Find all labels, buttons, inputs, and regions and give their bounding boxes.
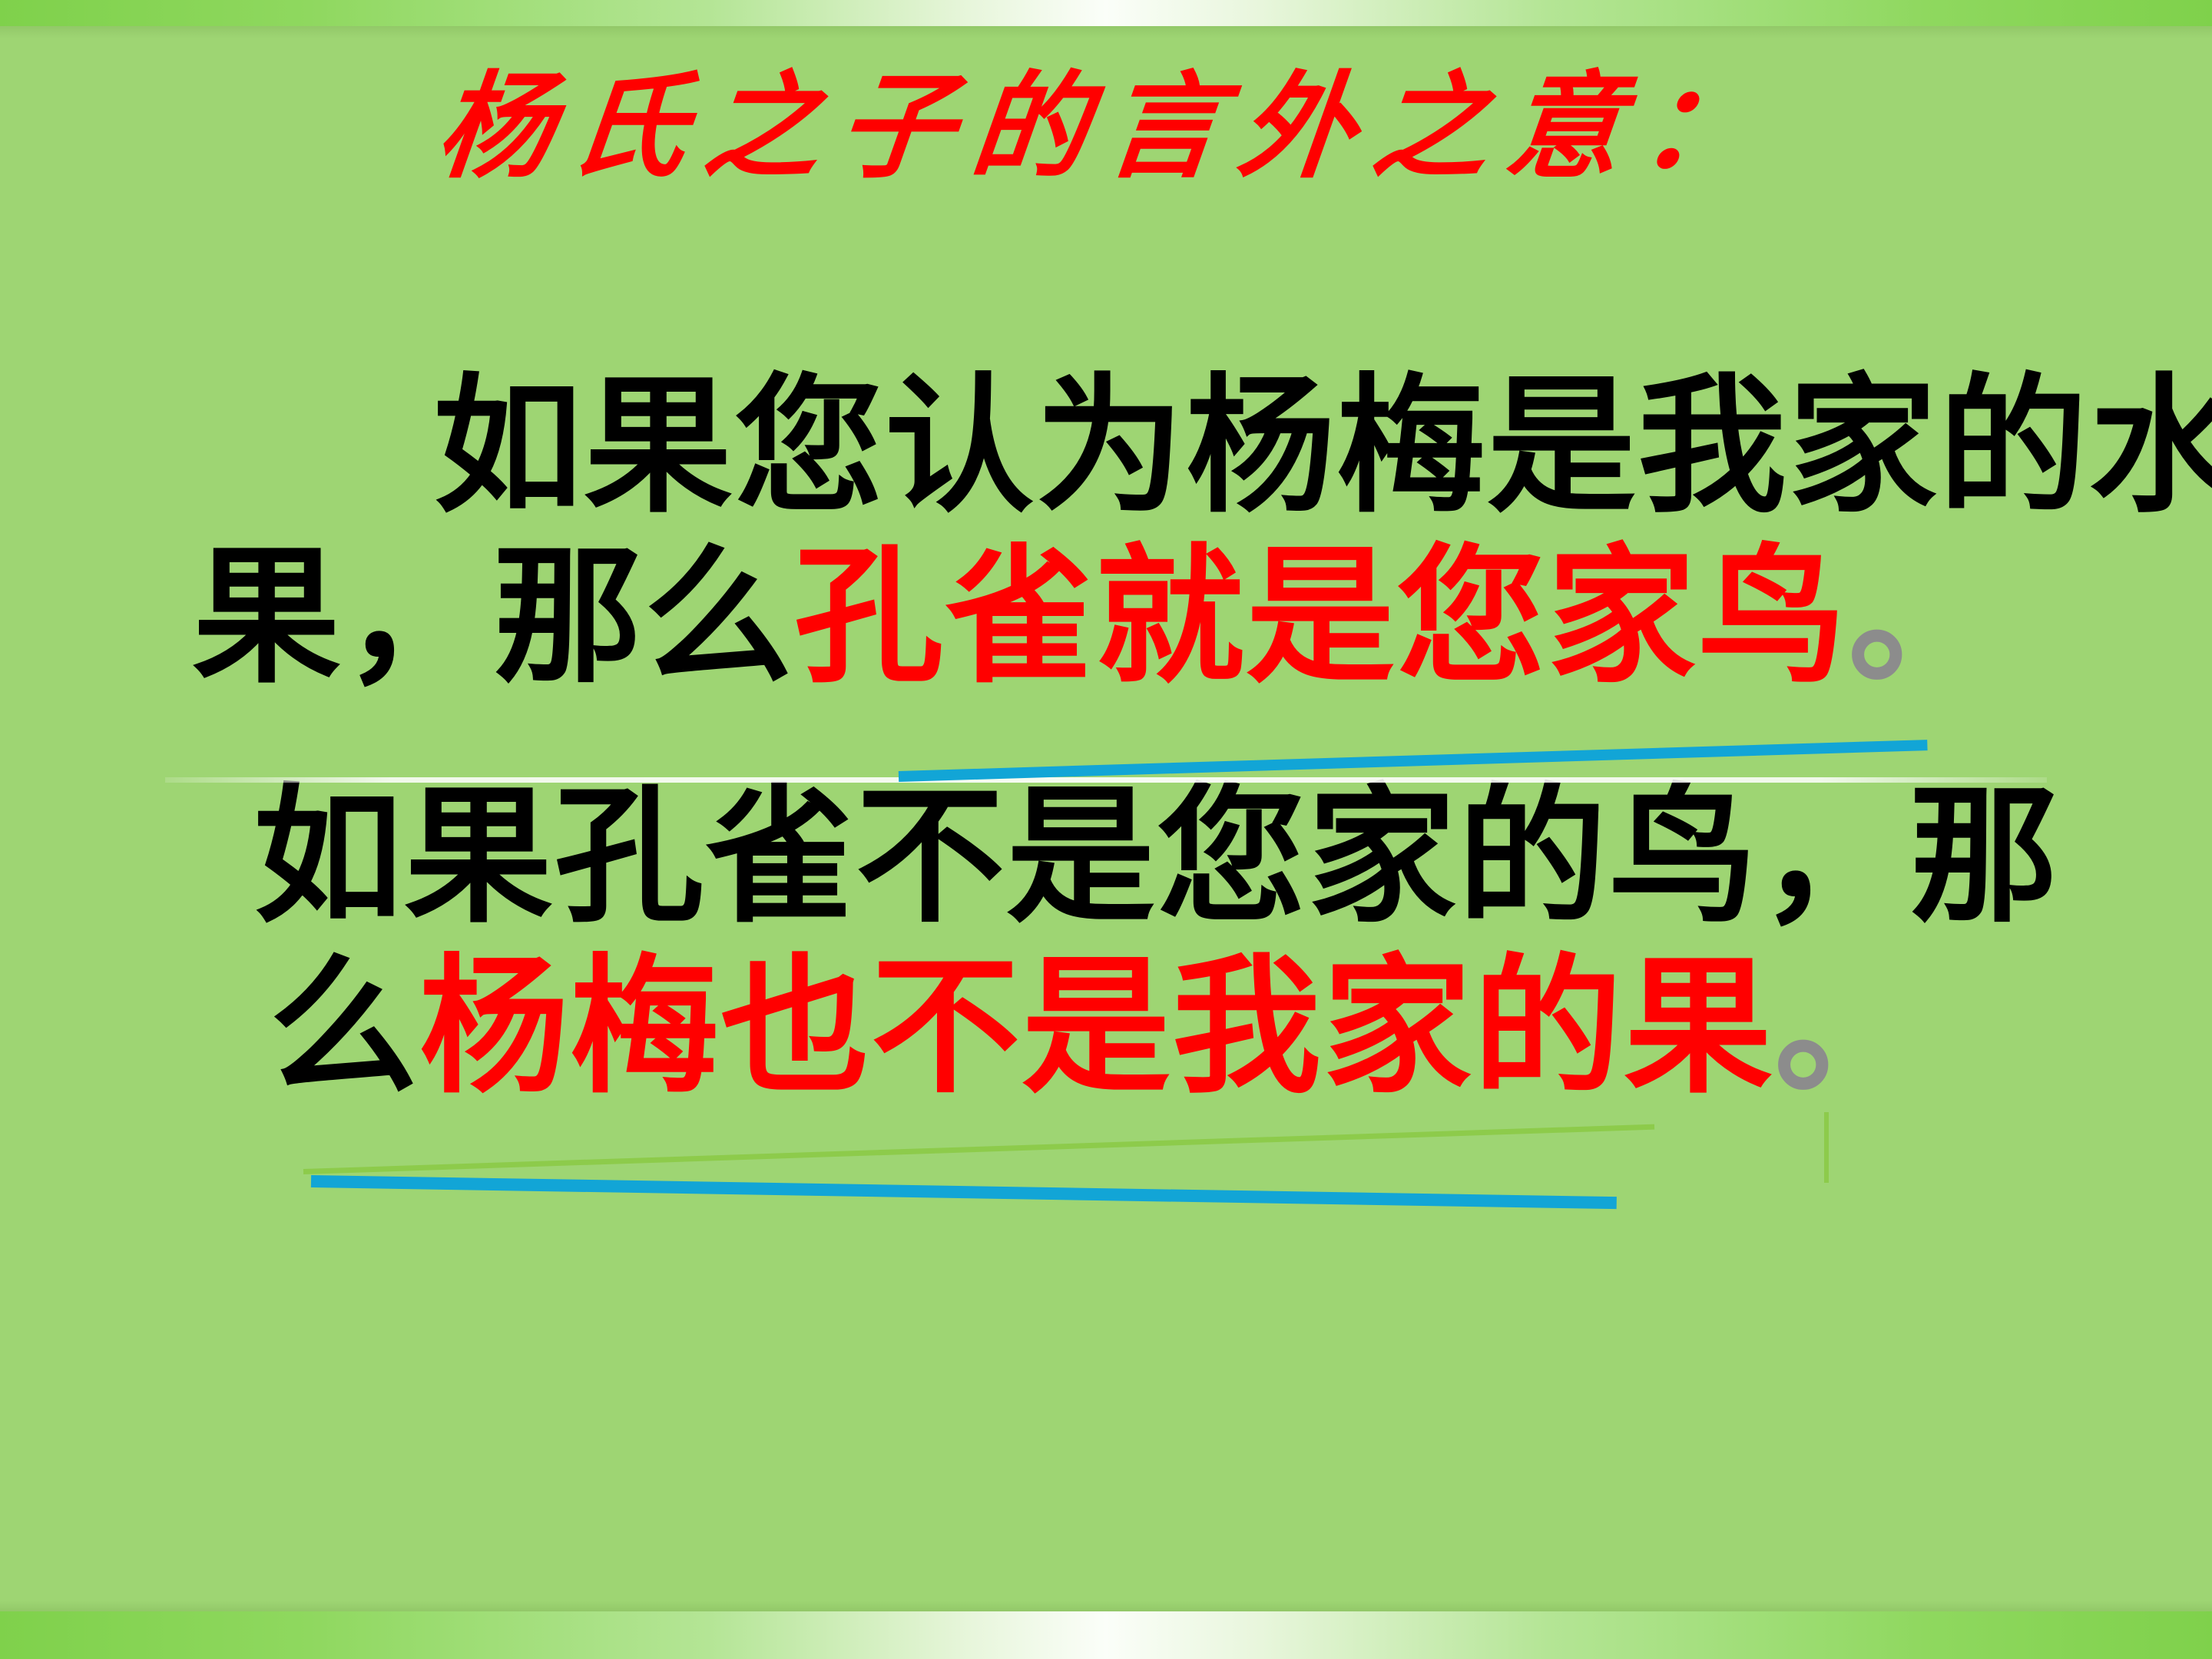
paragraph-1-line-2: 果，那么孔雀就是您家鸟。 <box>0 531 2212 702</box>
paragraph-2-period: 。 <box>1774 940 1925 1114</box>
section-divider-line <box>165 777 2047 783</box>
paragraph-1-line-2-black: 果，那么 <box>192 530 794 704</box>
paragraph-2-line-1-text: 如果孔雀不是您家的鸟，那 <box>253 770 2060 943</box>
underline-blue-paragraph-2 <box>311 1175 1617 1209</box>
paragraph-1-period: 。 <box>1848 530 1998 704</box>
top-decorative-band <box>0 0 2212 26</box>
paragraph-1-highlight: 孔雀就是您家鸟 <box>794 530 1848 704</box>
paragraph-2-line-2: 么杨梅也不是我家的果。 <box>0 942 2212 1112</box>
slide-body: 如果您认为杨梅是我家的水 果，那么孔雀就是您家鸟。 如果孔雀不是您家的鸟，那 么… <box>0 361 2212 1112</box>
slide-title: 杨氏之子的言外之意： <box>0 55 2212 200</box>
paragraph-2-line-1: 如果孔雀不是您家的鸟，那 <box>0 771 2212 942</box>
paragraph-1-line-1-text: 如果您认为杨梅是我家的水 <box>283 359 2212 533</box>
top-band-shadow <box>0 26 2212 38</box>
bottom-band-shadow <box>0 1601 2212 1611</box>
slide-canvas: 杨氏之子的言外之意： 如果您认为杨梅是我家的水 果，那么孔雀就是您家鸟。 如果孔… <box>0 0 2212 1659</box>
paragraph-2-line-2-black: 么 <box>269 940 419 1114</box>
underline-green-paragraph-2 <box>303 1124 1654 1174</box>
green-tick-mark <box>1824 1112 1829 1183</box>
bottom-decorative-band <box>0 1611 2212 1659</box>
paragraph-2-highlight: 杨梅也不是我家的果 <box>419 940 1774 1114</box>
paragraph-1-line-1: 如果您认为杨梅是我家的水 <box>0 361 2212 531</box>
